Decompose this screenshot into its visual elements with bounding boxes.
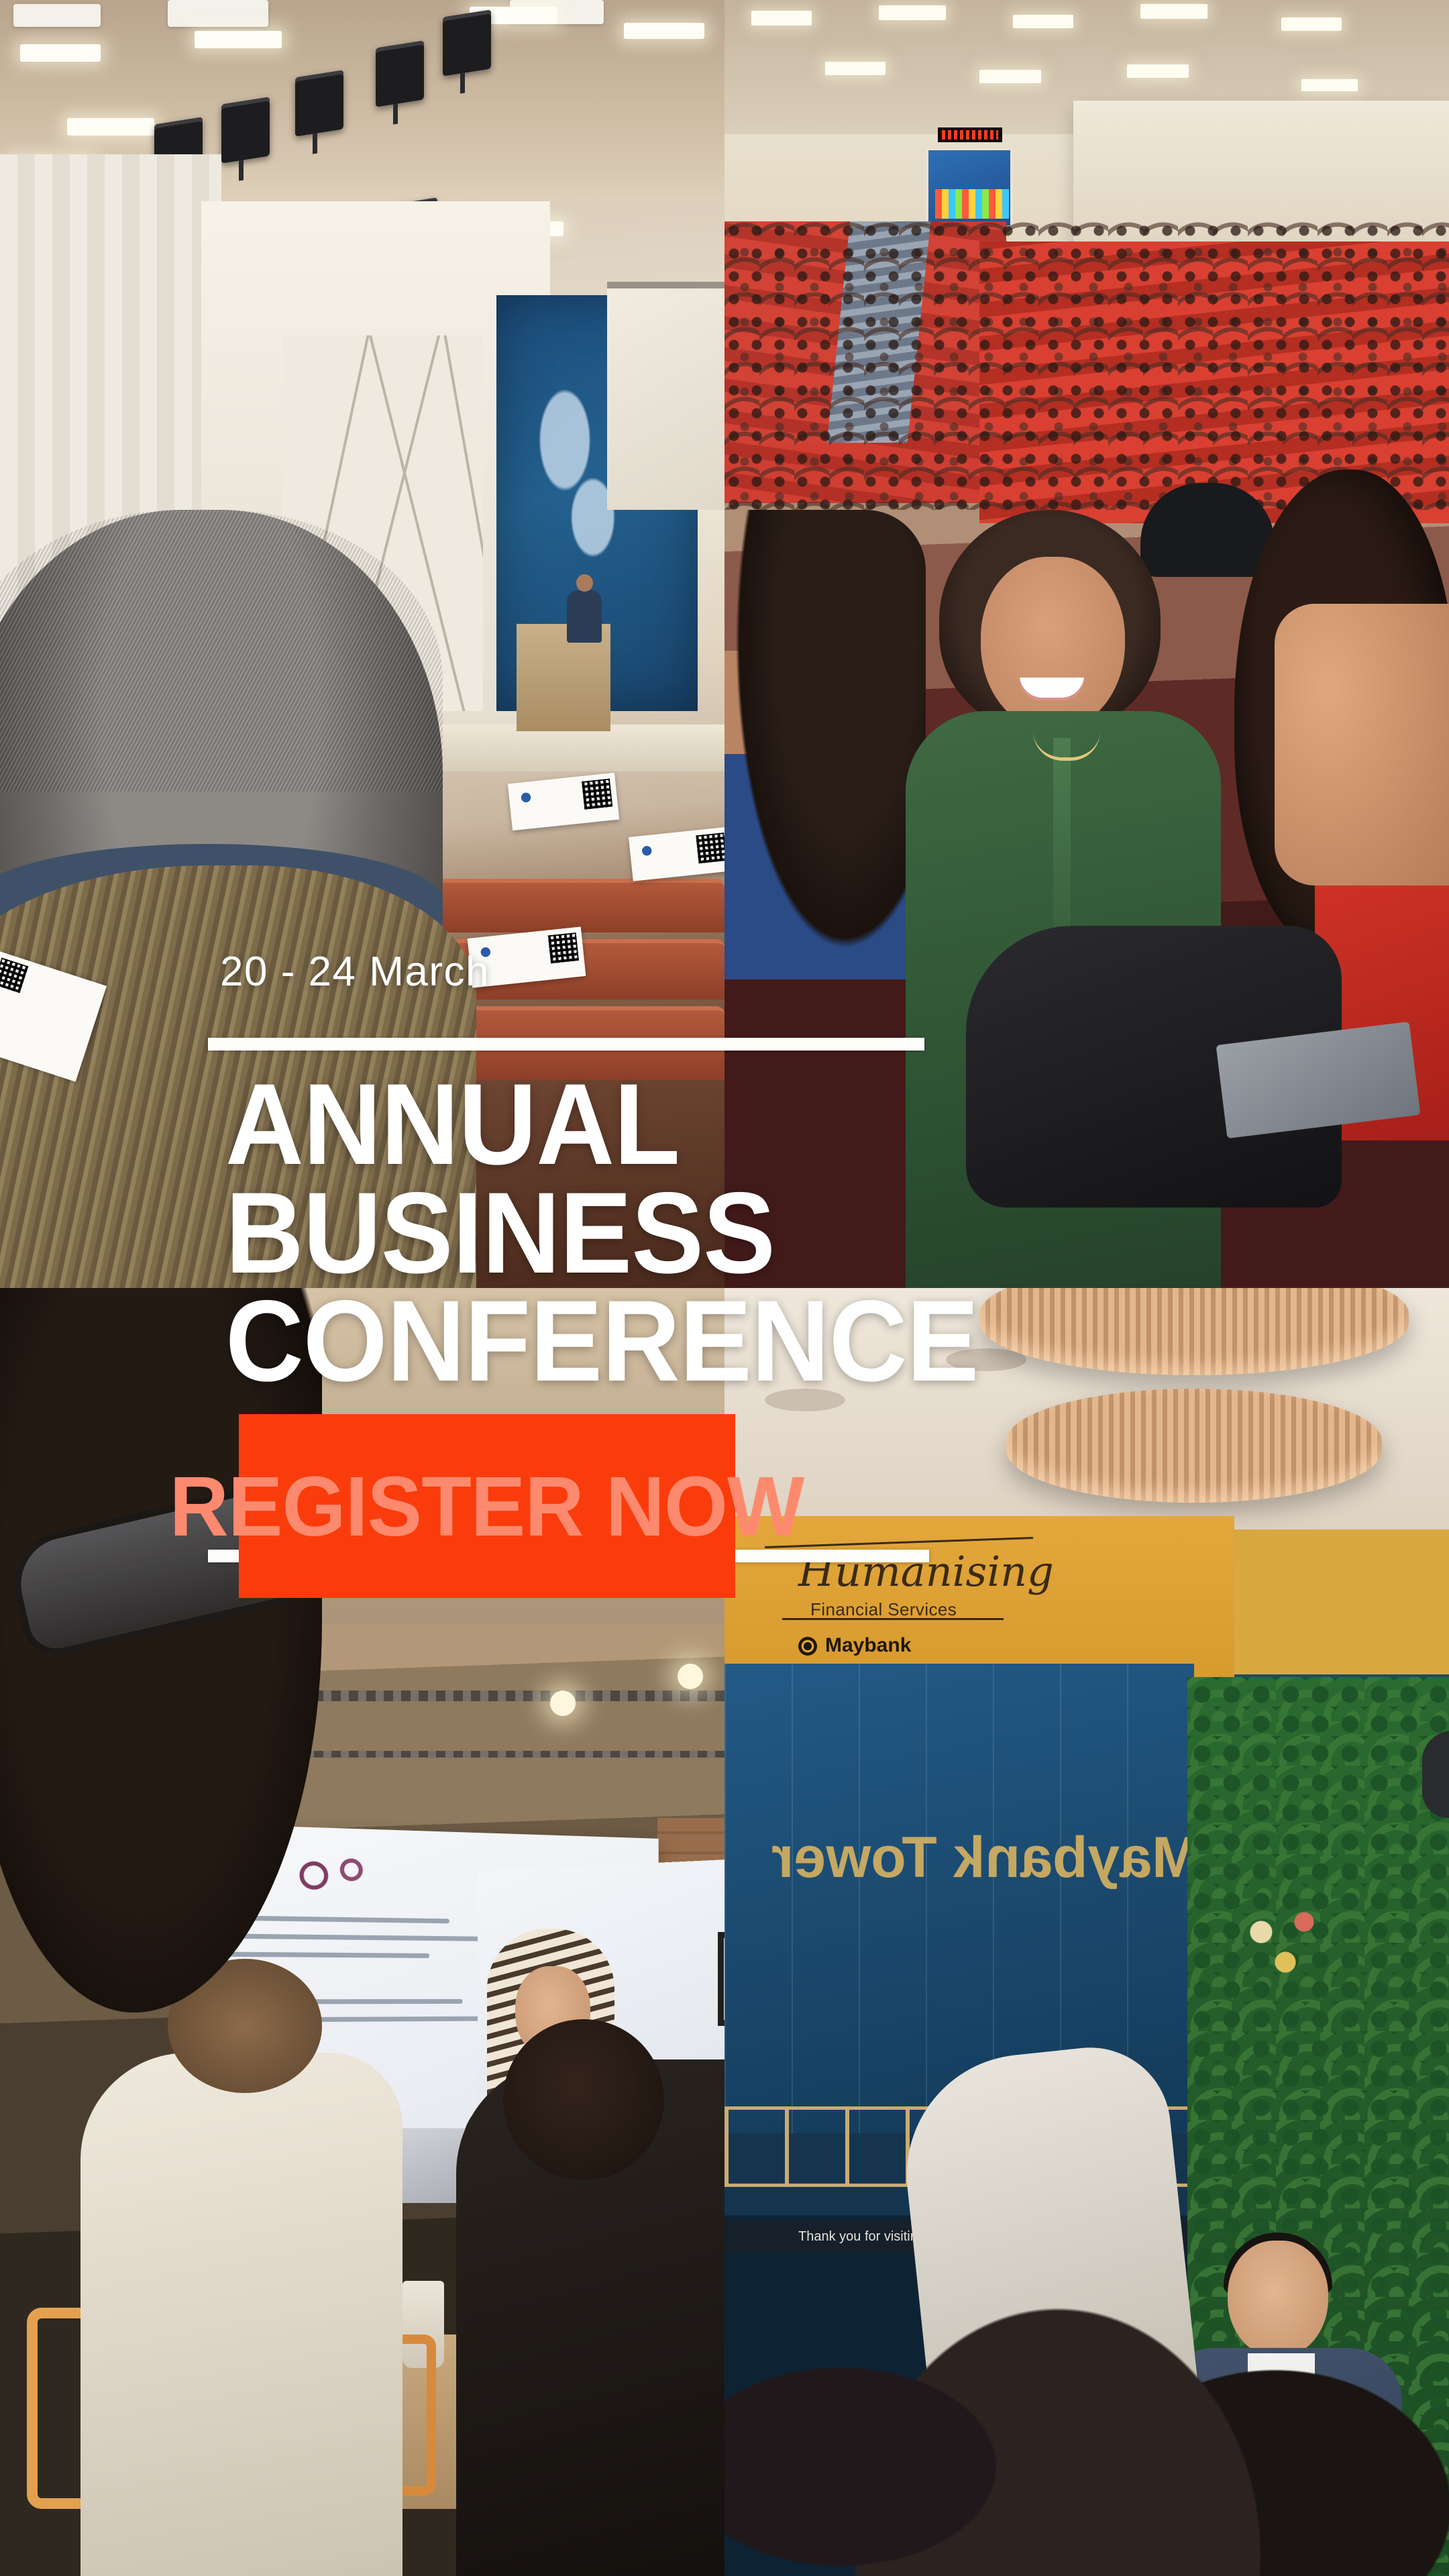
maybank-logo-icon bbox=[798, 1637, 817, 1656]
banner-subtitle: Financial Services bbox=[810, 1599, 957, 1620]
banner-tagline: Humanising bbox=[798, 1547, 1054, 1596]
tower-signage: Maybank Tower bbox=[771, 1825, 1200, 1891]
banner-brand: Maybank bbox=[825, 1634, 911, 1657]
photo-grid: Humanising Financial Services Maybank Ma… bbox=[0, 0, 1449, 2576]
maybank-banner: Humanising Financial Services Maybank bbox=[724, 1516, 1234, 1684]
photo-top-right bbox=[724, 0, 1449, 1288]
conference-poster: Humanising Financial Services Maybank Ma… bbox=[0, 0, 1449, 2576]
photo-bottom-right: Humanising Financial Services Maybank Ma… bbox=[724, 1288, 1449, 2576]
photo-top-left bbox=[0, 0, 724, 1288]
photo-bottom-left bbox=[0, 1288, 724, 2576]
